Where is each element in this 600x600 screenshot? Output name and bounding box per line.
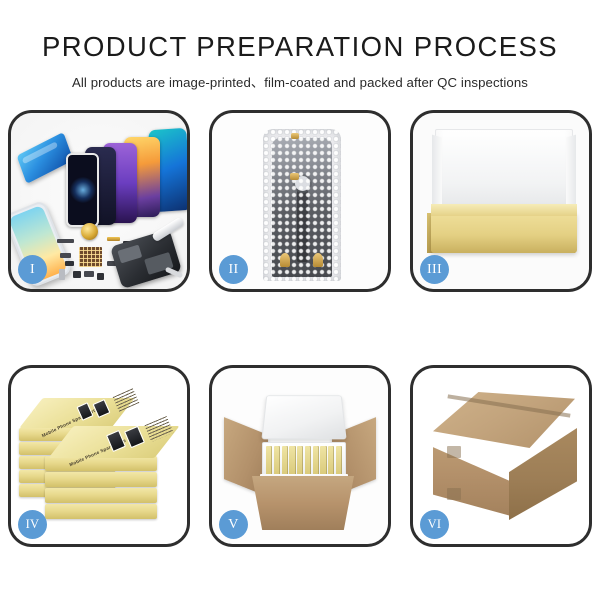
step-badge-5: V <box>219 510 248 539</box>
step-5-illustration: V <box>212 368 388 544</box>
process-step-panel-2: II <box>209 110 391 292</box>
kraft-box-body-icon <box>431 213 577 253</box>
gold-tab-icon <box>291 133 299 139</box>
yellow-box <box>297 446 303 476</box>
small-part-icon <box>65 261 74 266</box>
stacked-box <box>45 488 157 503</box>
carton-body-icon <box>252 476 354 530</box>
stacked-box <box>45 504 157 519</box>
yellow-box <box>266 446 272 476</box>
carton-tab <box>447 488 461 500</box>
yellow-box <box>282 446 288 476</box>
process-step-panel-6: VI <box>410 365 592 547</box>
flex-cable-part-icon <box>57 239 74 243</box>
small-part-icon <box>59 269 65 280</box>
gold-connector-part-icon <box>107 237 120 241</box>
gold-tab-icon <box>290 173 299 180</box>
sealed-carton-top-face <box>433 392 575 448</box>
phone-screen-icon <box>66 153 99 227</box>
step-badge-1: I <box>18 255 47 284</box>
process-step-panel-3: III <box>410 110 592 292</box>
yellow-box <box>336 446 342 476</box>
small-part-icon <box>73 271 81 278</box>
step-badge-3: III <box>420 255 449 284</box>
page-subtitle: All products are image-printed、film-coat… <box>0 61 600 91</box>
bubble-wrap-bag-icon <box>263 129 341 281</box>
camera-module-part-icon <box>97 273 104 280</box>
small-part-icon <box>84 271 94 277</box>
step-badge-4: IV <box>18 510 47 539</box>
yellow-box <box>305 446 311 476</box>
process-step-grid: I II <box>8 110 592 550</box>
step-badge-2: II <box>219 255 248 284</box>
yellow-box <box>320 446 326 476</box>
yellow-box <box>274 446 280 476</box>
yellow-box <box>289 446 295 476</box>
phone-backplate-icon <box>17 132 74 184</box>
chip-array-part-icon <box>79 247 102 267</box>
yellow-box <box>328 446 334 476</box>
box-stack: Mobile Phone Spare Parts Mobile Phone Sp… <box>17 382 187 534</box>
sealed-carton-left-face <box>433 434 511 516</box>
yellow-boxes-row <box>266 446 342 476</box>
yellow-box <box>313 446 319 476</box>
gold-coil-part-icon <box>81 223 98 240</box>
stacked-box <box>45 472 157 487</box>
step-badge-6: VI <box>420 510 449 539</box>
stacked-box <box>45 456 157 471</box>
gold-tab-icon <box>280 253 290 267</box>
page-root: PRODUCT PREPARATION PROCESS All products… <box>0 0 600 600</box>
box-label-lines <box>113 388 140 412</box>
step-3-illustration: III <box>413 113 589 289</box>
process-step-panel-1: I <box>8 110 190 292</box>
carton-tab <box>447 446 461 458</box>
step-2-illustration: II <box>212 113 388 289</box>
header: PRODUCT PREPARATION PROCESS All products… <box>0 0 600 91</box>
step-4-illustration: Mobile Phone Spare Parts Mobile Phone Sp… <box>11 368 187 544</box>
process-step-panel-4: Mobile Phone Spare Parts Mobile Phone Sp… <box>8 365 190 547</box>
step-1-illustration: I <box>11 113 187 289</box>
styrofoam-lid-icon <box>261 395 346 439</box>
process-step-panel-5: V <box>209 365 391 547</box>
gold-tab-icon <box>313 253 323 267</box>
small-part-icon <box>60 253 71 258</box>
page-title: PRODUCT PREPARATION PROCESS <box>0 0 600 61</box>
step-6-illustration: VI <box>413 368 589 544</box>
